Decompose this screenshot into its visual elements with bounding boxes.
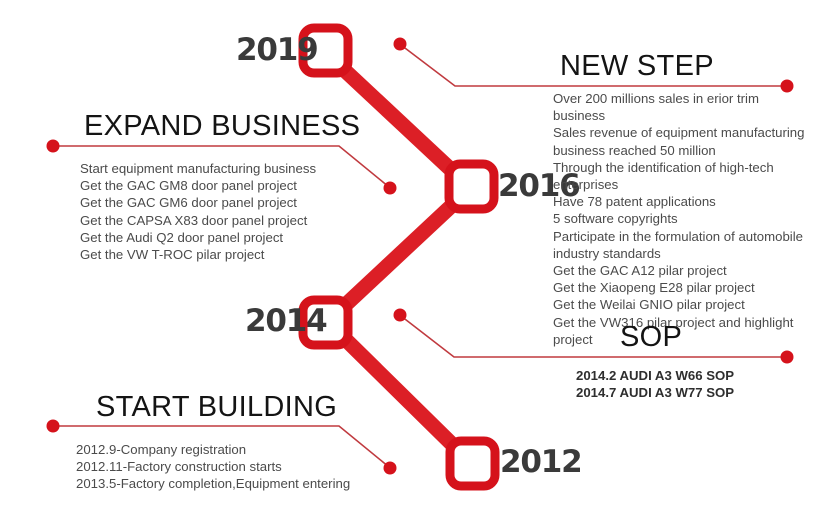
- node-2012[interactable]: [450, 441, 495, 486]
- infographic-canvas: 2019 2016 2014 2012 NEW STEP Over 200 mi…: [0, 0, 837, 527]
- spine-segment-2014-2012: [340, 334, 464, 456]
- heading-start-building: START BUILDING: [96, 393, 337, 422]
- body-sop: 2014.2 AUDI A3 W66 SOP 2014.7 AUDI A3 W7…: [576, 367, 836, 401]
- connector-dot-expand-inner: [384, 182, 397, 195]
- year-label-2012: 2012: [500, 447, 581, 478]
- heading-sop: SOP: [620, 323, 682, 352]
- heading-new-step: NEW STEP: [560, 52, 714, 81]
- body-expand-business: Start equipment manufacturing business G…: [80, 160, 380, 263]
- connector-dot-start-outer: [47, 420, 60, 433]
- connector-dot-new-step-inner: [394, 38, 407, 51]
- body-new-step: Over 200 millions sales in erior trim bu…: [553, 90, 835, 348]
- connector-dot-sop-outer: [781, 351, 794, 364]
- connector-dot-expand-outer: [47, 140, 60, 153]
- node-2016[interactable]: [449, 164, 494, 209]
- year-label-2019: 2019: [236, 35, 317, 66]
- heading-expand-business: EXPAND BUSINESS: [84, 112, 360, 141]
- connector-dot-sop-inner: [394, 309, 407, 322]
- body-start-building: 2012.9-Company registration 2012.11-Fact…: [76, 441, 396, 493]
- year-label-2014: 2014: [245, 306, 326, 337]
